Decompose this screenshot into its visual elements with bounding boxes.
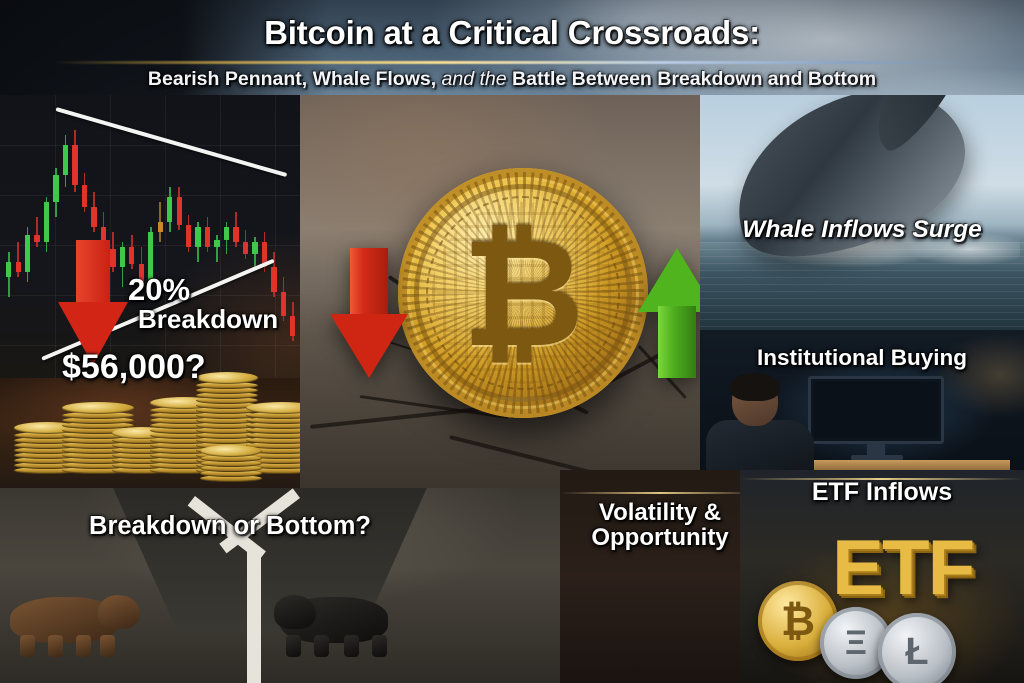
institutional-buying-label: Institutional Buying <box>700 345 1024 371</box>
whale-inflows-label: Whale Inflows Surge <box>700 216 1024 244</box>
candlestick <box>16 95 21 395</box>
subtitle-part-b: and the <box>436 68 512 90</box>
candlestick <box>34 95 39 395</box>
candlestick <box>252 95 257 395</box>
trader-figure-icon <box>706 376 814 480</box>
whale-panel <box>700 95 1024 330</box>
etf-inflows-label: ETF Inflows <box>740 478 1024 507</box>
volatility-line-2: Opportunity <box>558 525 762 550</box>
red-down-arrow-icon <box>58 240 128 365</box>
bitcoin-coin-icon: ₿ <box>398 168 648 418</box>
candlestick <box>262 95 267 395</box>
page-title: Bitcoin at a Critical Crossroads: <box>0 14 1024 52</box>
page-subtitle: Bearish Pennant, Whale Flows, and the Ba… <box>0 68 1024 91</box>
breakdown-label: Breakdown <box>138 304 278 335</box>
volatility-line-1: Volatility & <box>558 500 762 525</box>
road-marking-stem <box>247 548 261 683</box>
breakdown-or-bottom-label: Breakdown or Bottom? <box>0 512 460 541</box>
candlestick <box>214 95 219 395</box>
coin-stack <box>200 445 262 482</box>
infographic-canvas: 20% Breakdown $56,000? ₿ Whale Inflows S… <box>0 0 1024 683</box>
candlestick <box>44 95 49 395</box>
price-target-label: $56,000? <box>62 348 206 387</box>
trading-monitor-icon <box>808 376 944 444</box>
subtitle-part-c: Battle Between Breakdown and Bottom <box>512 68 876 90</box>
volatility-opportunity-label: Volatility & Opportunity <box>558 500 762 551</box>
gold-coin-stacks <box>0 378 330 488</box>
title-divider-rule <box>52 61 977 64</box>
candlestick <box>233 95 238 395</box>
candlestick <box>290 95 295 395</box>
candlestick <box>6 95 11 395</box>
etf-wordmark: ETF <box>832 528 973 606</box>
candlestick <box>271 95 276 395</box>
bitcoin-symbol: ₿ <box>398 168 648 418</box>
candlestick <box>25 95 30 395</box>
red-down-arrow-icon-large <box>330 248 408 378</box>
candlestick <box>243 95 248 395</box>
candlestick <box>224 95 229 395</box>
litecoin-coin-icon: Ł <box>878 613 956 683</box>
candlestick <box>281 95 286 395</box>
subtitle-part-a: Bearish Pennant, Whale Flows, <box>148 68 436 90</box>
breakdown-percent: 20% <box>128 272 190 308</box>
